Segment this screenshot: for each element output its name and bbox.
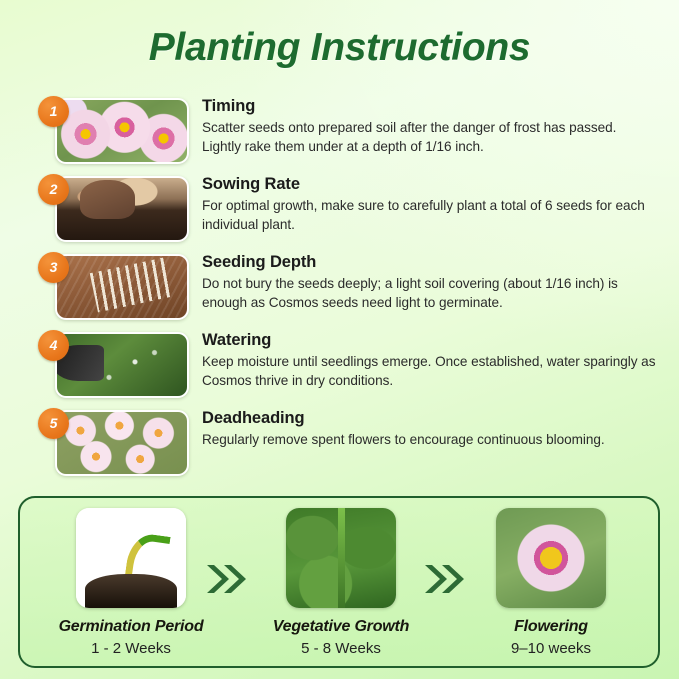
step-image: [55, 176, 189, 242]
sprinkler-watering-photo: [57, 334, 187, 396]
step-heading: Watering: [202, 330, 657, 350]
stage-duration: 5 - 8 Weeks: [241, 639, 441, 658]
cosmos-flowers-photo: [57, 100, 187, 162]
step-thumbnail-wrap: 4: [24, 326, 189, 396]
step-number-badge: 3: [38, 252, 69, 283]
step-text: Seeding Depth Do not bury the seeds deep…: [202, 248, 657, 312]
stage-image: [286, 508, 396, 608]
list-item: 3 Seeding Depth Do not bury the seeds de…: [0, 248, 679, 326]
stage-duration: 1 - 2 Weeks: [31, 639, 231, 658]
rake-in-soil-photo: [57, 256, 187, 318]
step-thumbnail-wrap: 2: [24, 170, 189, 240]
step-heading: Deadheading: [202, 408, 657, 428]
timeline-stage-vegetative: Vegetative Growth 5 - 8 Weeks: [241, 508, 441, 658]
list-item: 2 Sowing Rate For optimal growth, make s…: [0, 170, 679, 248]
step-image: [55, 98, 189, 164]
planting-instructions-infographic: Planting Instructions 1 Timing Scatter s…: [0, 0, 679, 679]
step-image: [55, 332, 189, 398]
step-thumbnail-wrap: 3: [24, 248, 189, 318]
step-heading: Sowing Rate: [202, 174, 657, 194]
stage-label: Flowering: [451, 617, 651, 637]
step-thumbnail-wrap: 5: [24, 404, 189, 474]
step-body: Regularly remove spent flowers to encour…: [202, 431, 657, 450]
pink-cosmos-bloom-photo: [496, 508, 606, 608]
pink-blooms-photo: [57, 412, 187, 474]
page-title: Planting Instructions: [0, 24, 679, 72]
step-number-badge: 2: [38, 174, 69, 205]
step-thumbnail-wrap: 1: [24, 92, 189, 162]
step-body: Do not bury the seeds deeply; a light so…: [202, 275, 657, 312]
step-body: For optimal growth, make sure to careful…: [202, 197, 657, 234]
growth-timeline-panel: Germination Period 1 - 2 Weeks Vegetativ…: [18, 496, 660, 668]
stage-label: Vegetative Growth: [241, 617, 441, 637]
green-foliage-photo: [286, 508, 396, 608]
step-number-badge: 5: [38, 408, 69, 439]
step-number-badge: 4: [38, 330, 69, 361]
sprouting-seed-photo: [76, 508, 186, 608]
step-body: Keep moisture until seedlings emerge. On…: [202, 353, 657, 390]
double-chevron-right-icon: [421, 560, 467, 598]
step-image: [55, 410, 189, 476]
step-text: Sowing Rate For optimal growth, make sur…: [202, 170, 657, 234]
step-number-badge: 1: [38, 96, 69, 127]
list-item: 4 Watering Keep moisture until seedlings…: [0, 326, 679, 404]
step-image: [55, 254, 189, 320]
stage-image: [496, 508, 606, 608]
step-text: Deadheading Regularly remove spent flowe…: [202, 404, 657, 450]
double-chevron-right-icon: [203, 560, 249, 598]
timeline-stage-flowering: Flowering 9–10 weeks: [451, 508, 651, 658]
step-body: Scatter seeds onto prepared soil after t…: [202, 119, 657, 156]
step-heading: Timing: [202, 96, 657, 116]
hand-sowing-seeds-photo: [57, 178, 187, 240]
steps-list: 1 Timing Scatter seeds onto prepared soi…: [0, 92, 679, 486]
list-item: 5 Deadheading Regularly remove spent flo…: [0, 404, 679, 486]
step-text: Watering Keep moisture until seedlings e…: [202, 326, 657, 390]
step-text: Timing Scatter seeds onto prepared soil …: [202, 92, 657, 156]
stage-label: Germination Period: [31, 617, 231, 637]
stage-image: [76, 508, 186, 608]
list-item: 1 Timing Scatter seeds onto prepared soi…: [0, 92, 679, 170]
step-heading: Seeding Depth: [202, 252, 657, 272]
timeline-stage-germination: Germination Period 1 - 2 Weeks: [31, 508, 231, 658]
stage-duration: 9–10 weeks: [451, 639, 651, 658]
